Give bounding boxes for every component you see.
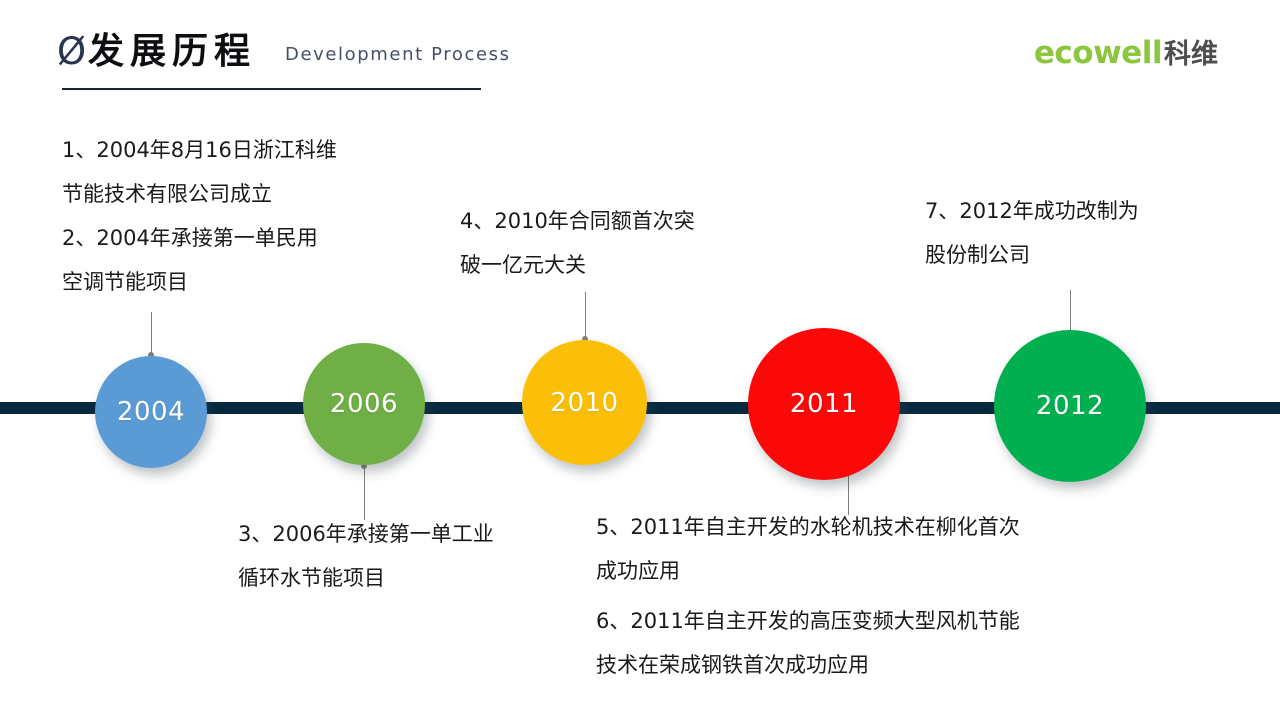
timeline-node-label: 2004 bbox=[117, 399, 185, 425]
page-subtitle: Development Process bbox=[285, 44, 511, 66]
timeline-node-2010[interactable]: 2010 bbox=[522, 340, 647, 465]
timeline-node-2006[interactable]: 2006 bbox=[303, 343, 425, 465]
timeline-node-label: 2010 bbox=[550, 390, 618, 416]
slide-header: Ø 发展历程 Development Process ecowell 科维 bbox=[0, 0, 1280, 110]
title-underline bbox=[62, 88, 481, 90]
timeline-node-label: 2012 bbox=[1036, 393, 1104, 419]
callout-2011-a: 5、2011年自主开发的水轮机技术在柳化首次 成功应用 bbox=[596, 505, 1020, 593]
timeline-node-label: 2011 bbox=[790, 391, 858, 417]
callout-2010: 4、2010年合同额首次突 破一亿元大关 bbox=[460, 199, 695, 287]
timeline-node-label: 2006 bbox=[330, 391, 398, 417]
leader-line-2010 bbox=[585, 292, 586, 340]
slashed-circle-icon: Ø bbox=[57, 33, 86, 70]
callout-2011-b: 6、2011年自主开发的高压变频大型风机节能 技术在荣成钢铁首次成功应用 bbox=[596, 599, 1020, 687]
brand-logo: ecowell 科维 bbox=[1034, 36, 1218, 70]
logo-chinese-name: 科维 bbox=[1164, 38, 1218, 72]
timeline-node-2011[interactable]: 2011 bbox=[748, 328, 900, 480]
timeline-node-2004[interactable]: 2004 bbox=[95, 356, 207, 468]
callout-2006: 3、2006年承接第一单工业 循环水节能项目 bbox=[238, 512, 494, 600]
timeline-node-2012[interactable]: 2012 bbox=[994, 330, 1146, 482]
callout-2012: 7、2012年成功改制为 股份制公司 bbox=[925, 189, 1139, 277]
page-title: 发展历程 bbox=[88, 31, 256, 73]
leader-line-2004 bbox=[151, 312, 152, 356]
logo-wordmark: ecowell bbox=[1034, 36, 1162, 70]
callout-2004: 1、2004年8月16日浙江科维 节能技术有限公司成立 2、2004年承接第一单… bbox=[62, 128, 337, 304]
